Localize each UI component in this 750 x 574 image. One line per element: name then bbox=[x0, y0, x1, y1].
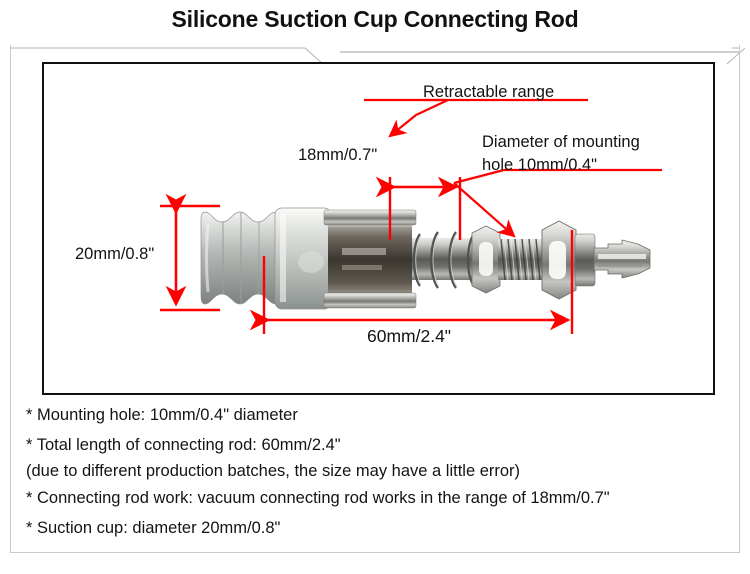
threaded-shank bbox=[498, 239, 546, 280]
rod-collar bbox=[575, 234, 595, 286]
spec-item-rod-work: * Connecting rod work: vacuum connecting… bbox=[26, 483, 738, 513]
dimension-label-stroke: 18mm/0.7" bbox=[298, 146, 377, 165]
page-title: Silicone Suction Cup Connecting Rod bbox=[0, 6, 750, 33]
spec-item-total-length-note: (due to different production batches, th… bbox=[26, 460, 738, 483]
dimension-label-cup-diameter: 20mm/0.8" bbox=[75, 245, 154, 264]
annotation-retractable-range: Retractable range bbox=[423, 82, 554, 103]
product-spec-page: Silicone Suction Cup Connecting Rod bbox=[0, 0, 750, 574]
product-diagram: Retractable range Diameter of mounting h… bbox=[42, 62, 715, 395]
spec-item-total-length: * Total length of connecting rod: 60mm/2… bbox=[26, 430, 738, 460]
annotation-mounting-hole-line1: Diameter of mounting bbox=[482, 132, 640, 153]
spec-list: * Mounting hole: 10mm/0.4" diameter * To… bbox=[26, 400, 738, 543]
rod-dark-barrel bbox=[328, 222, 412, 297]
leader-retractable-range bbox=[364, 100, 448, 136]
suction-cup-assembly bbox=[201, 208, 650, 309]
return-spring bbox=[412, 232, 478, 288]
spec-item-suction-cup: * Suction cup: diameter 20mm/0.8" bbox=[26, 513, 738, 543]
dimension-label-total-length: 60mm/2.4" bbox=[367, 326, 451, 347]
barbed-hose-fitting bbox=[594, 240, 650, 278]
silicone-body-collar bbox=[275, 208, 331, 309]
annotation-mounting-hole-line2: hole 10mm/0.4" bbox=[482, 155, 597, 176]
hex-nut-inner bbox=[472, 226, 500, 293]
spec-item-mounting-hole: * Mounting hole: 10mm/0.4" diameter bbox=[26, 400, 738, 430]
